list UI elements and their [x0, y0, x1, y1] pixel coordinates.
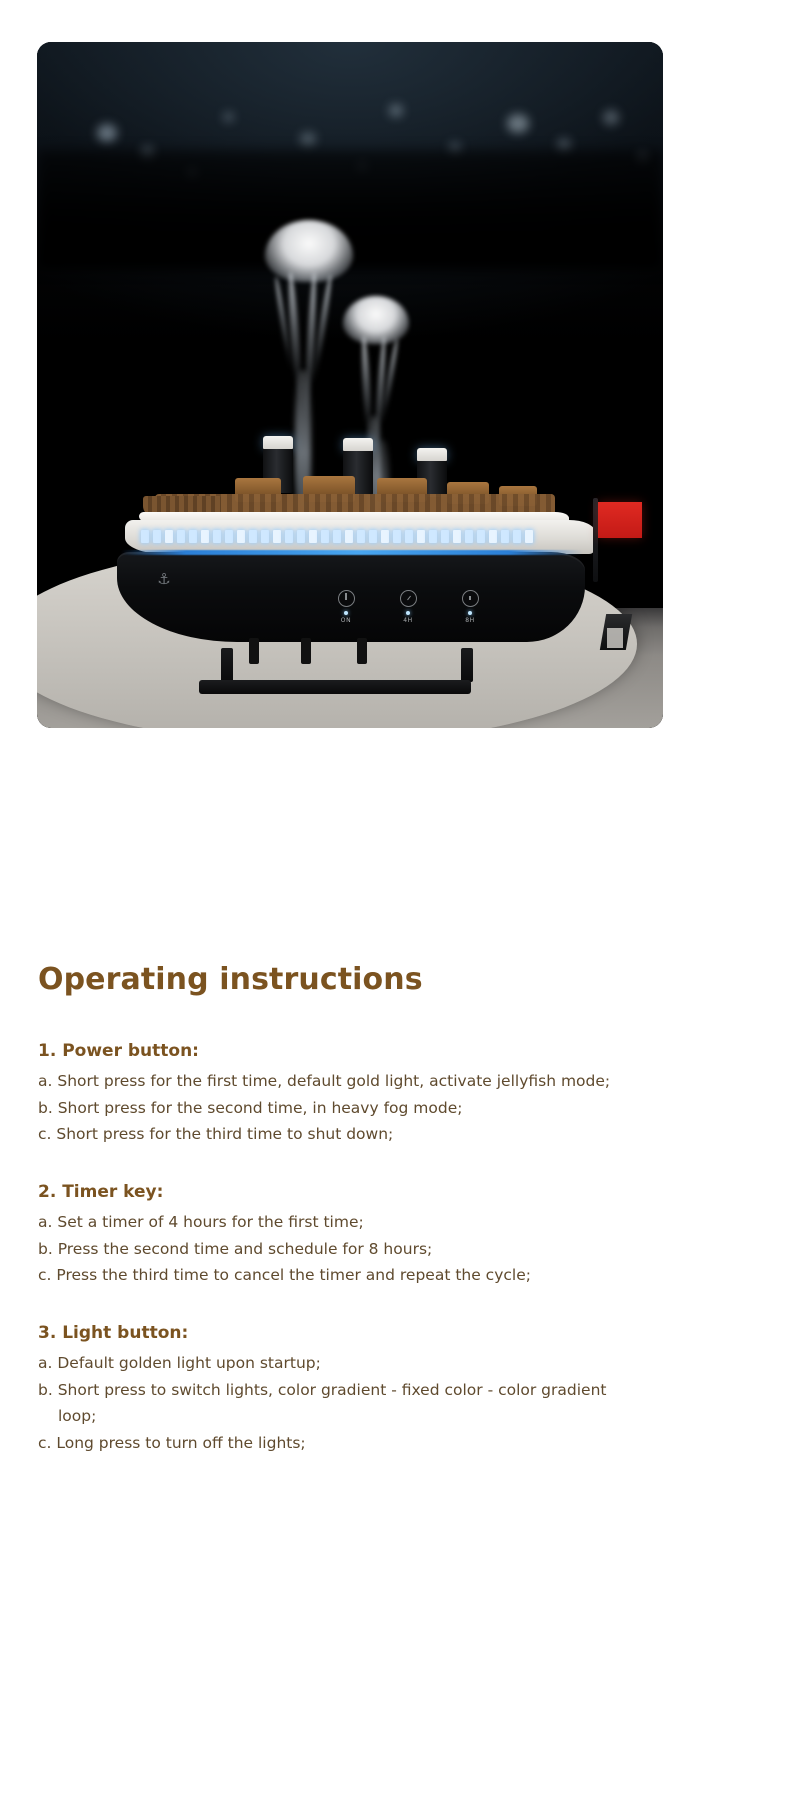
led-window [237, 530, 245, 543]
product-image: ⚓ ON 4H 8H [37, 42, 663, 728]
led-window [477, 530, 485, 543]
led-window [441, 530, 449, 543]
instruction-line-wrap: loop; [38, 1403, 762, 1430]
stand-strut [249, 638, 259, 664]
instruction-line: c. Press the third time to cancel the ti… [38, 1262, 762, 1289]
power-button[interactable]: ON [330, 590, 362, 624]
instruction-line: a. Set a timer of 4 hours for the first … [38, 1209, 762, 1236]
timer-indicator-led [406, 611, 410, 615]
instruction-group-light: 3. Light button: a. Default golden light… [38, 1323, 762, 1457]
instruction-line: a. Default golden light upon startup; [38, 1350, 762, 1377]
instruction-line-continuation: loop; [38, 1403, 762, 1430]
product-photo-scene: ⚓ ON 4H 8H [37, 42, 663, 728]
led-window [333, 530, 341, 543]
power-indicator-led [344, 611, 348, 615]
bokeh-light [97, 124, 117, 142]
led-window [153, 530, 161, 543]
led-window [141, 530, 149, 543]
instruction-group-heading: 1. Power button: [38, 1041, 762, 1061]
led-window [417, 530, 425, 543]
power-icon [338, 590, 355, 607]
led-window [513, 530, 521, 543]
bokeh-light [300, 132, 316, 146]
light-button-label: 8H [454, 617, 486, 624]
led-window [465, 530, 473, 543]
plume-tentacle [373, 336, 387, 456]
led-window [177, 530, 185, 543]
instruction-line: b. Press the second time and schedule fo… [38, 1236, 762, 1263]
led-window [381, 530, 389, 543]
instruction-group-heading: 3. Light button: [38, 1323, 762, 1343]
led-window [225, 530, 233, 543]
stern-chip [607, 628, 623, 648]
ship-humidifier: ⚓ ON 4H 8H [95, 442, 615, 692]
led-window [321, 530, 329, 543]
instruction-line: c. Long press to turn off the lights; [38, 1430, 762, 1457]
control-panel: ON 4H 8H [330, 590, 486, 624]
led-window [309, 530, 317, 543]
funnel-cap [417, 448, 447, 461]
led-window [501, 530, 509, 543]
stand-base [199, 680, 471, 694]
timer-icon [400, 590, 417, 607]
led-window [285, 530, 293, 543]
timer-button-label: 4H [392, 617, 424, 624]
funnel-cap [343, 438, 373, 451]
stand-strut [301, 638, 311, 664]
led-window [393, 530, 401, 543]
bokeh-light [223, 112, 234, 122]
instructions-section: Operating instructions 1. Power button: … [38, 962, 762, 1457]
bokeh-light [507, 114, 529, 133]
timer-button[interactable]: 4H [392, 590, 424, 624]
treeline-silhouette [37, 150, 663, 270]
led-window [357, 530, 365, 543]
led-window [201, 530, 209, 543]
led-window [369, 530, 377, 543]
led-window [273, 530, 281, 543]
stand-leg [221, 648, 233, 682]
stand-leg [461, 648, 473, 682]
led-window [429, 530, 437, 543]
plume-tentacle [379, 338, 399, 426]
led-window [489, 530, 497, 543]
led-window [189, 530, 197, 543]
led-window [453, 530, 461, 543]
power-button-label: ON [330, 617, 362, 624]
instruction-group-timer: 2. Timer key: a. Set a timer of 4 hours … [38, 1182, 762, 1289]
instruction-line: b. Short press for the second time, in h… [38, 1095, 762, 1122]
waterline-stripe [121, 550, 583, 555]
led-window [405, 530, 413, 543]
plume-cap [343, 296, 409, 344]
led-window [345, 530, 353, 543]
instruction-line: a. Short press for the first time, defau… [38, 1068, 762, 1095]
plume-tentacle [360, 336, 372, 440]
light-button[interactable]: 8H [454, 590, 486, 624]
led-window [525, 530, 533, 543]
bokeh-light [603, 110, 619, 125]
instruction-group-heading: 2. Timer key: [38, 1182, 762, 1202]
led-window [261, 530, 269, 543]
page-title: Operating instructions [38, 962, 762, 997]
instruction-line: c. Short press for the third time to shu… [38, 1121, 762, 1148]
plume-tentacle [310, 274, 333, 384]
plume-tentacle [286, 272, 303, 402]
red-flag [598, 502, 642, 538]
stand-strut [357, 638, 367, 664]
instruction-line: b. Short press to switch lights, color g… [38, 1377, 762, 1404]
led-window [297, 530, 305, 543]
led-window [213, 530, 221, 543]
led-window-row [141, 526, 541, 546]
plume-tentacle [303, 272, 318, 422]
light-icon [462, 590, 479, 607]
funnel-cap [263, 436, 293, 449]
anchor-icon: ⚓ [157, 570, 171, 588]
led-window [249, 530, 257, 543]
bokeh-light [389, 104, 403, 117]
light-indicator-led [468, 611, 472, 615]
led-window [165, 530, 173, 543]
instruction-group-power: 1. Power button: a. Short press for the … [38, 1041, 762, 1148]
plume-tentacle [274, 276, 294, 372]
